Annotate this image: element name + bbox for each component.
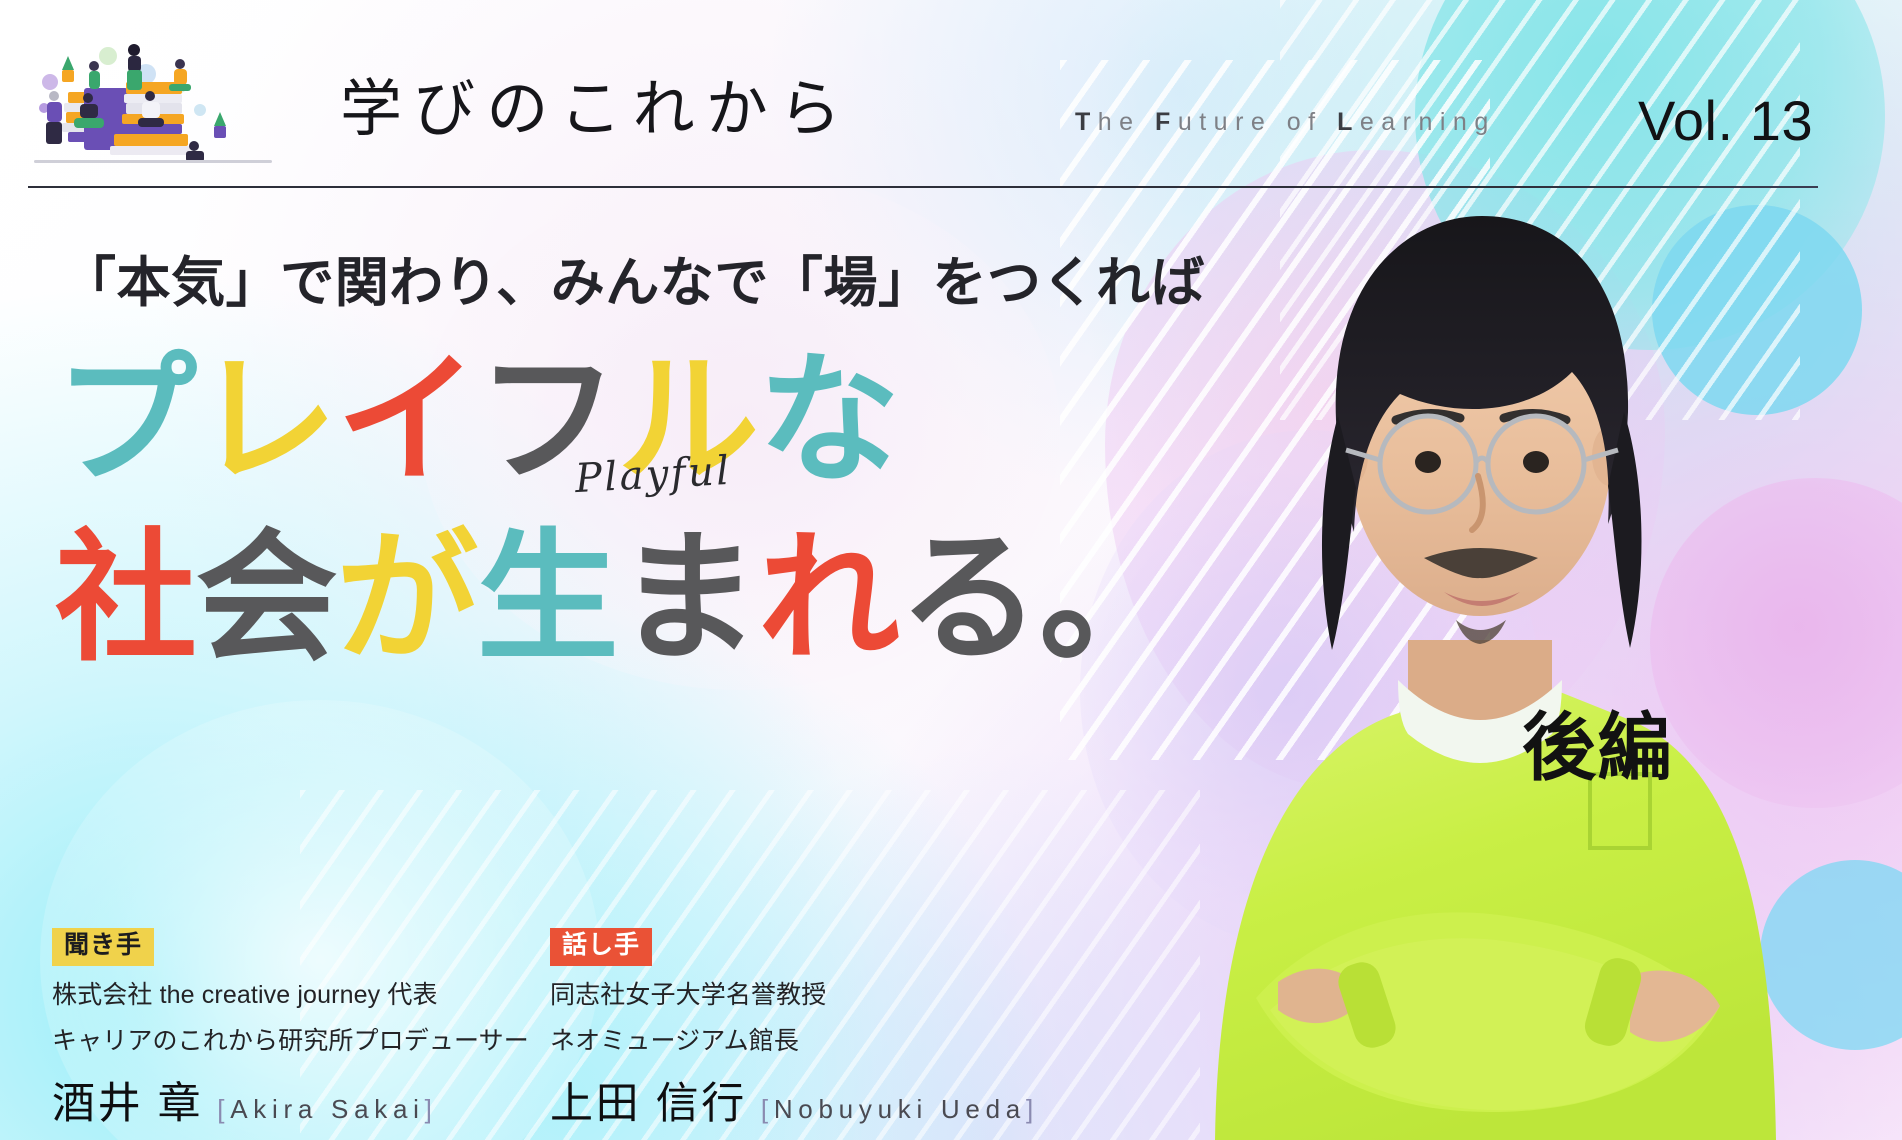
headline-char: プ (55, 341, 196, 500)
subtitle-segment: he (1098, 108, 1155, 136)
headline-char: 会 (196, 519, 337, 678)
volume-label: Vol. 13 (1638, 88, 1813, 153)
playful-script-accent: Playful (574, 448, 733, 502)
part-label: 後編 (1522, 688, 1673, 795)
subtitle-segment: F (1155, 108, 1178, 136)
badge-listener: 聞き手 (52, 928, 154, 966)
headline-char: 生 (477, 519, 618, 678)
headline-line-2: 社会が生まれる。 (55, 528, 1535, 670)
headline-char: 社 (55, 519, 196, 678)
speaker-name-ja: 上田 信行 (550, 1080, 747, 1128)
credits-block: 聞き手 株式会社 the creative journey 代表 キャリアのこれ… (52, 928, 990, 1131)
speaker-role-line-2: ネオミュージアム館長 (550, 1024, 990, 1059)
site-header: 学びのこれから The Future of Learning Vol. 13 (0, 0, 1902, 190)
speaker-name: 上田 信行[Nobuyuki Ueda] (550, 1069, 990, 1131)
speaker-name-romaji: [Nobuyuki Ueda] (761, 1094, 1039, 1124)
listener-name: 酒井 章[Akira Sakai] (52, 1069, 492, 1131)
poster-canvas: 学びのこれから The Future of Learning Vol. 13 「… (0, 0, 1902, 1140)
listener-name-romaji: [Akira Sakai] (217, 1094, 437, 1124)
subtitle-segment: earning (1360, 108, 1496, 136)
headline-line-1: プレイフルな (55, 350, 1535, 492)
brand-subtitle: The Future of Learning (1075, 108, 1496, 137)
credit-listener: 聞き手 株式会社 the creative journey 代表 キャリアのこれ… (52, 928, 492, 1131)
headline-char: る (899, 519, 1040, 678)
badge-speaker: 話し手 (550, 928, 652, 966)
headline-char: が (336, 519, 477, 678)
speaker-role-line-1: 同志社女子大学名誉教授 (550, 978, 990, 1013)
headline-char: な (758, 341, 899, 500)
headline-char: レ (196, 341, 337, 500)
headline-char: イ (336, 341, 477, 500)
headline-char: 。 (1039, 519, 1180, 678)
people-reading-books-illustration (28, 30, 278, 170)
subtitle-segment: uture of (1178, 108, 1337, 136)
header-divider-rule (28, 186, 1818, 188)
listener-role-line-2: キャリアのこれから研究所プロデューサー (52, 1024, 492, 1059)
credit-speaker: 話し手 同志社女子大学名誉教授 ネオミュージアム館長 上田 信行[Nobuyuk… (550, 928, 990, 1131)
headline-kicker: 「本気」で関わり、みんなで「場」をつくれば (62, 238, 1205, 317)
subtitle-segment: T (1075, 108, 1098, 136)
subtitle-segment: L (1337, 108, 1360, 136)
headline-char: ま (617, 519, 758, 678)
listener-role-line-1: 株式会社 the creative journey 代表 (52, 978, 492, 1013)
headline-block: プレイフルな 社会が生まれる。 (55, 350, 1535, 670)
brand-title: 学びのこれから (340, 58, 852, 148)
headline-char: れ (758, 519, 899, 678)
listener-name-ja: 酒井 章 (52, 1080, 203, 1128)
